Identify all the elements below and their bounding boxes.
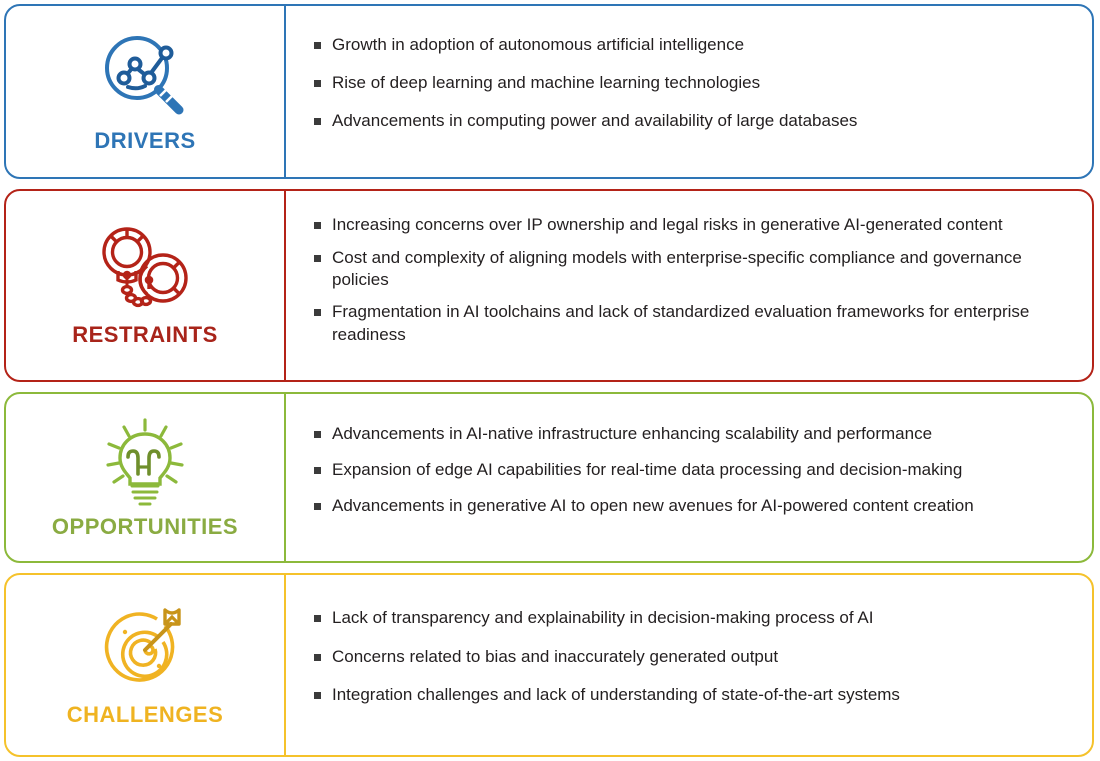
list-item: Integration challenges and lack of under… bbox=[314, 684, 1078, 706]
panel-restraints-header: RESTRAINTS bbox=[6, 191, 284, 380]
panel-restraints: RESTRAINTS Increasing concerns over IP o… bbox=[4, 189, 1094, 382]
panel-challenges-header: CHALLENGES bbox=[6, 575, 284, 755]
list-item: Concerns related to bias and inaccuratel… bbox=[314, 646, 1078, 668]
list-item: Rise of deep learning and machine learni… bbox=[314, 72, 1078, 94]
panel-drivers-label: DRIVERS bbox=[94, 130, 195, 152]
panel-drivers-content: Growth in adoption of autonomous artific… bbox=[286, 6, 1092, 177]
panel-challenges-content: Lack of transparency and explainability … bbox=[286, 575, 1092, 755]
panel-drivers-bullet-list: Growth in adoption of autonomous artific… bbox=[314, 34, 1078, 149]
list-item: Cost and complexity of aligning models w… bbox=[314, 247, 1078, 292]
handcuffs-icon bbox=[93, 222, 197, 318]
lightbulb-icon bbox=[97, 414, 193, 510]
list-item: Advancements in AI-native infrastructure… bbox=[314, 423, 1078, 445]
panel-opportunities-content: Advancements in AI-native infrastructure… bbox=[286, 394, 1092, 561]
panel-opportunities-label: OPPORTUNITIES bbox=[52, 516, 238, 538]
panel-challenges-bullet-list: Lack of transparency and explainability … bbox=[314, 607, 1078, 722]
panel-restraints-content: Increasing concerns over IP ownership an… bbox=[286, 191, 1092, 380]
list-item: Advancements in generative AI to open ne… bbox=[314, 495, 1078, 517]
list-item: Expansion of edge AI capabilities for re… bbox=[314, 459, 1078, 481]
list-item: Growth in adoption of autonomous artific… bbox=[314, 34, 1078, 56]
panel-challenges: CHALLENGES Lack of transparency and expl… bbox=[4, 573, 1094, 757]
target-dart-icon bbox=[95, 602, 195, 698]
panel-restraints-bullet-list: Increasing concerns over IP ownership an… bbox=[314, 214, 1078, 356]
list-item: Fragmentation in AI toolchains and lack … bbox=[314, 301, 1078, 346]
magnifier-chart-icon bbox=[99, 28, 191, 124]
panel-drivers: DRIVERS Growth in adoption of autonomous… bbox=[4, 4, 1094, 179]
panel-challenges-label: CHALLENGES bbox=[67, 704, 224, 726]
panel-opportunities-bullet-list: Advancements in AI-native infrastructure… bbox=[314, 423, 1078, 532]
panel-opportunities-header: OPPORTUNITIES bbox=[6, 394, 284, 561]
panel-restraints-label: RESTRAINTS bbox=[72, 324, 218, 346]
drivers-restraints-opportunities-challenges-board: DRIVERS Growth in adoption of autonomous… bbox=[0, 0, 1100, 761]
panel-drivers-header: DRIVERS bbox=[6, 6, 284, 177]
list-item: Advancements in computing power and avai… bbox=[314, 110, 1078, 132]
list-item: Lack of transparency and explainability … bbox=[314, 607, 1078, 629]
panel-opportunities: OPPORTUNITIES Advancements in AI-native … bbox=[4, 392, 1094, 563]
list-item: Increasing concerns over IP ownership an… bbox=[314, 214, 1078, 236]
